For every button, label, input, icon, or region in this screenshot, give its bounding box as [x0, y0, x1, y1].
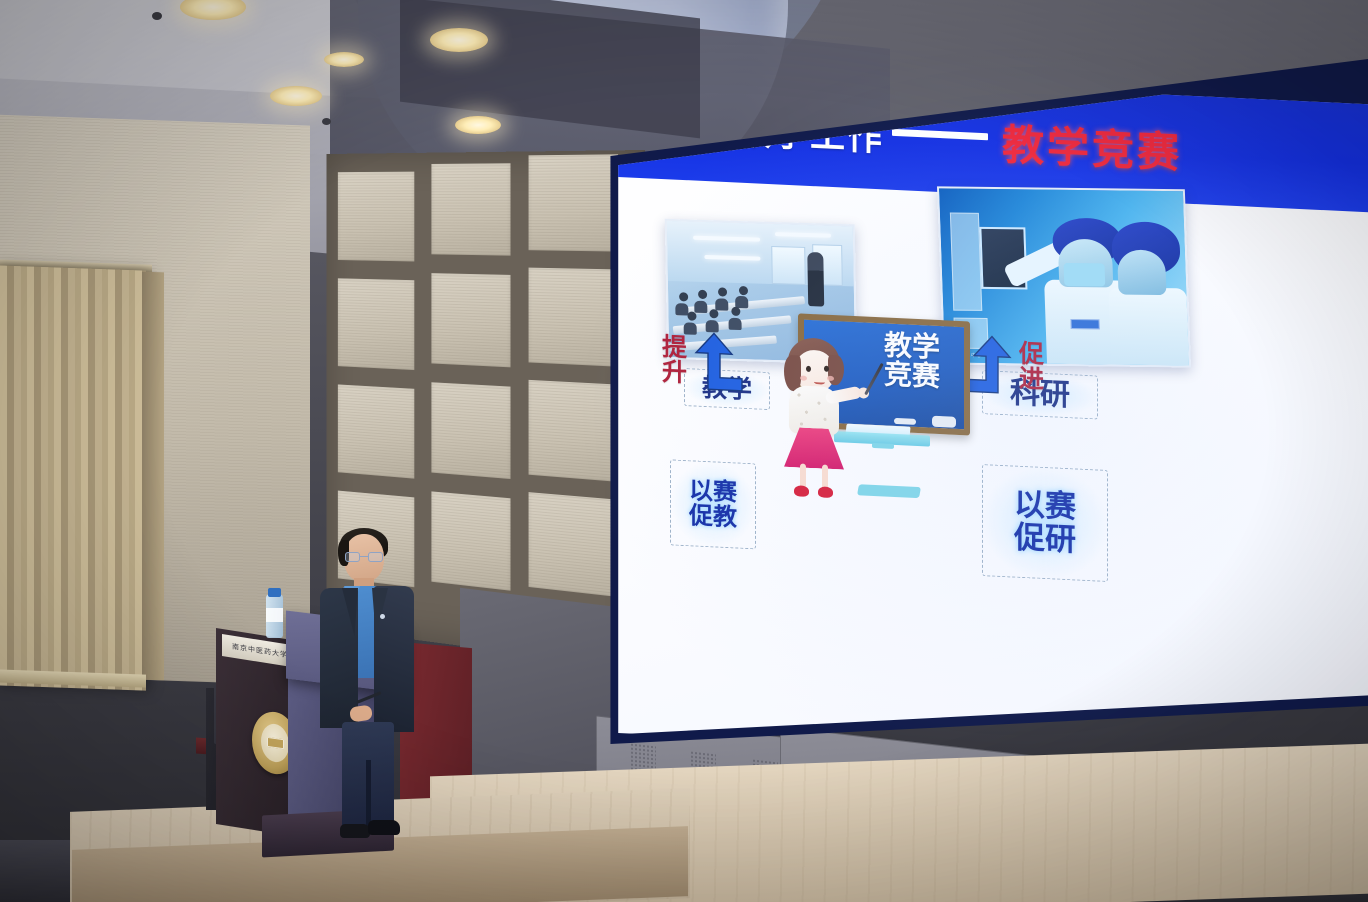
glasses-bridge: [360, 556, 368, 557]
stage-curtain-edge: [142, 272, 164, 681]
slide-title-accent: 教学竞赛: [1002, 110, 1182, 179]
photo-lab-coat: [1108, 288, 1189, 366]
water-bottle-cap: [268, 588, 281, 597]
acoustic-panel: [338, 384, 414, 478]
photo-face-mask: [1064, 263, 1106, 286]
glasses-lens-left: [345, 552, 360, 562]
label-yi-sai-cu-jiao: 以赛 促教: [670, 459, 756, 549]
emblem-book-icon: [267, 737, 284, 749]
chalkboard-illustration: 教学 竞赛: [760, 312, 970, 512]
label-yi-sai-cu-yan: 以赛 促研: [982, 464, 1108, 582]
label-br-line2: 促研: [1014, 522, 1076, 558]
arrow-up-left-icon: [690, 330, 746, 393]
photo-student: [709, 309, 718, 318]
photo-window: [771, 246, 805, 285]
floor-chalk-stick: [857, 484, 921, 498]
photo-lecturer: [808, 252, 825, 307]
acoustic-panel: [431, 491, 510, 590]
arrow-label-tisheng-line2: 升: [662, 359, 687, 385]
photo-student: [679, 292, 688, 301]
presenter-glasses: [345, 552, 383, 562]
girl-shoe: [818, 486, 833, 498]
arrow-label-cujin-line2: 进: [1019, 366, 1044, 392]
acoustic-panel: [431, 382, 510, 479]
board-eraser: [932, 416, 956, 428]
chalk-stick: [894, 418, 916, 425]
girl-cheek: [827, 376, 834, 381]
girl-hair-left: [784, 355, 801, 392]
acoustic-panel: [529, 154, 618, 251]
downlight-5: [455, 116, 501, 134]
downlight-6: [430, 28, 488, 52]
presenter-shoe-right: [368, 820, 400, 835]
presenter: [316, 528, 416, 838]
girl-mouth: [814, 378, 825, 385]
photo-student: [698, 290, 707, 299]
photo-student: [718, 288, 727, 297]
girl-cheek: [800, 375, 807, 380]
arrow-group-left: 提 升: [662, 329, 746, 393]
downlight-3: [270, 86, 322, 106]
acoustic-panel: [529, 492, 618, 597]
ceiling-sprinkler-2: [322, 118, 331, 125]
photo-student: [732, 307, 741, 316]
photo-id-badge: [1070, 319, 1100, 330]
girl-eye-right: [824, 366, 829, 372]
board-stand: [872, 443, 894, 449]
chalkboard-text: 教学 竞赛: [870, 330, 954, 392]
screenshot-root: 一、教学工作 教学竞赛: [0, 0, 1368, 902]
cartoon-teacher-girl: [780, 337, 860, 491]
photo-student: [728, 318, 741, 330]
glasses-lens-right: [368, 552, 383, 562]
acoustic-panel: [431, 273, 510, 367]
water-bottle-label: [266, 608, 283, 622]
acoustic-panel: [338, 172, 414, 262]
girl-shoe: [794, 485, 809, 497]
podium-emblem-inner: [261, 722, 289, 764]
presenter-hand: [349, 705, 373, 723]
ceiling-sprinkler-1: [152, 12, 162, 20]
acoustic-panel: [529, 268, 618, 367]
photo-student: [739, 286, 748, 295]
arrow-group-right: 促 进: [960, 333, 1044, 397]
acoustic-panel: [338, 278, 414, 370]
lapel-pin: [380, 614, 385, 619]
downlight-4: [324, 52, 364, 67]
presentation-slide: 一、教学工作 教学竞赛: [610, 69, 1368, 758]
photo-student: [694, 301, 707, 313]
stage-curtain: [0, 265, 146, 690]
podium-nameplate-text: 南京中医药大学: [232, 642, 288, 661]
photo-lightbox-panel: [950, 213, 983, 311]
projection-screen[interactable]: 一、教学工作 教学竞赛: [598, 58, 1368, 758]
lecture-hall-room: 一、教学工作 教学竞赛: [0, 0, 1368, 902]
acoustic-panel: [529, 380, 618, 482]
photo-student: [715, 298, 728, 310]
presenter-shoe-left: [340, 824, 370, 838]
title-dash-rule: [892, 129, 988, 141]
girl-eye-left: [806, 366, 811, 372]
acoustic-panel: [431, 163, 510, 255]
label-bl-line2: 促教: [689, 503, 737, 531]
photo-student: [687, 311, 696, 320]
